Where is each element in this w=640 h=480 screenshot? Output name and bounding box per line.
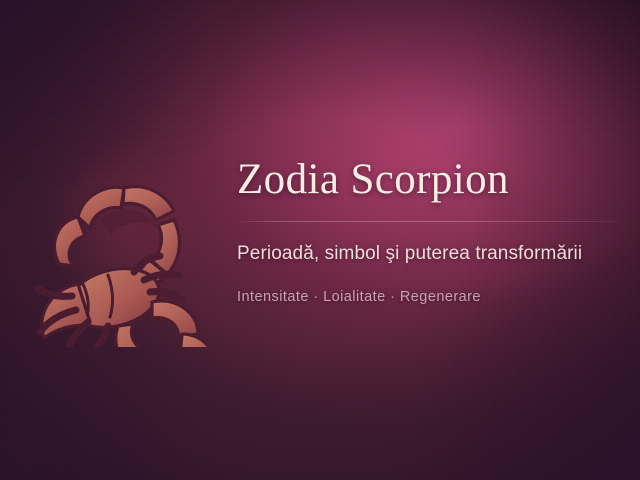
slide-subtitle: Perioadă, simbol şi puterea transformări… <box>237 241 627 267</box>
title-slide: Zodia Scorpion Perioadă, simbol şi puter… <box>0 0 640 480</box>
scorpion-tail-seg1 <box>54 217 85 266</box>
page-title: Zodia Scorpion <box>237 155 627 205</box>
scorpion-leg-4 <box>86 326 108 347</box>
scorpion-claw-upper <box>180 334 215 347</box>
slide-tagline: Intensitate · Loialitate · Regenerare <box>237 287 627 307</box>
title-divider <box>237 221 627 222</box>
scorpion-claw-arm <box>152 301 198 337</box>
scorpion-tail-inner-shadow <box>100 210 157 235</box>
slide-text-block: Zodia Scorpion Perioadă, simbol şi puter… <box>237 155 627 307</box>
scorpion-claw2-arm <box>116 324 153 347</box>
scorpion-icon <box>26 112 231 347</box>
